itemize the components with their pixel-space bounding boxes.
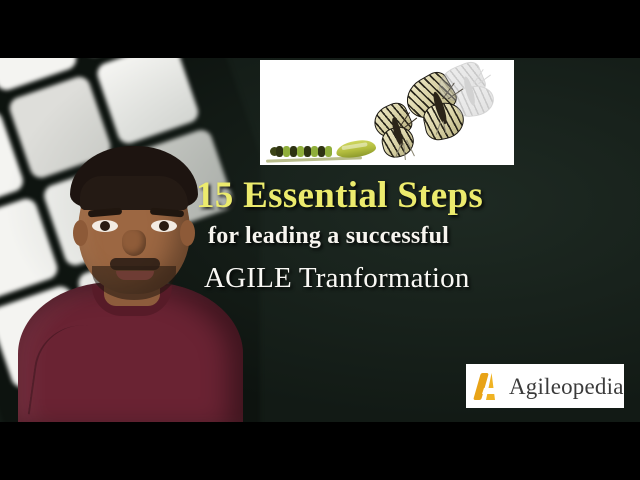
butterfly-metamorphosis-panel (260, 60, 514, 165)
title-block: 15 Essential Steps for leading a success… (196, 176, 616, 295)
youtube-thumbnail: 15 Essential Steps for leading a success… (0, 0, 640, 480)
presenter-mustache (110, 258, 160, 270)
presenter-eye-left (92, 220, 118, 232)
headline-primary: 15 Essential Steps (196, 176, 616, 215)
presenter-hair (70, 146, 198, 208)
presenter-ear-right (180, 220, 195, 246)
thumbnail-content-stage: 15 Essential Steps for leading a success… (0, 58, 640, 422)
brand-logo: Agileopedia (466, 364, 624, 408)
caterpillar-icon (276, 146, 332, 157)
sweater-fold (28, 319, 117, 422)
presenter-nose (122, 230, 146, 256)
letterbox-bar-bottom (0, 422, 640, 480)
letterbox-bar-top (0, 0, 640, 58)
brand-logo-text: Agileopedia (509, 375, 624, 398)
presenter-ear-left (73, 220, 88, 246)
flying-butterfly-faded-icon (436, 64, 506, 118)
headline-secondary: for leading a successful (208, 223, 616, 250)
presenter-eye-right (151, 220, 177, 232)
agileopedia-a-mark-icon (474, 371, 504, 401)
presenter-mouth (116, 271, 154, 280)
headline-tertiary: AGILE Tranformation (204, 262, 616, 295)
